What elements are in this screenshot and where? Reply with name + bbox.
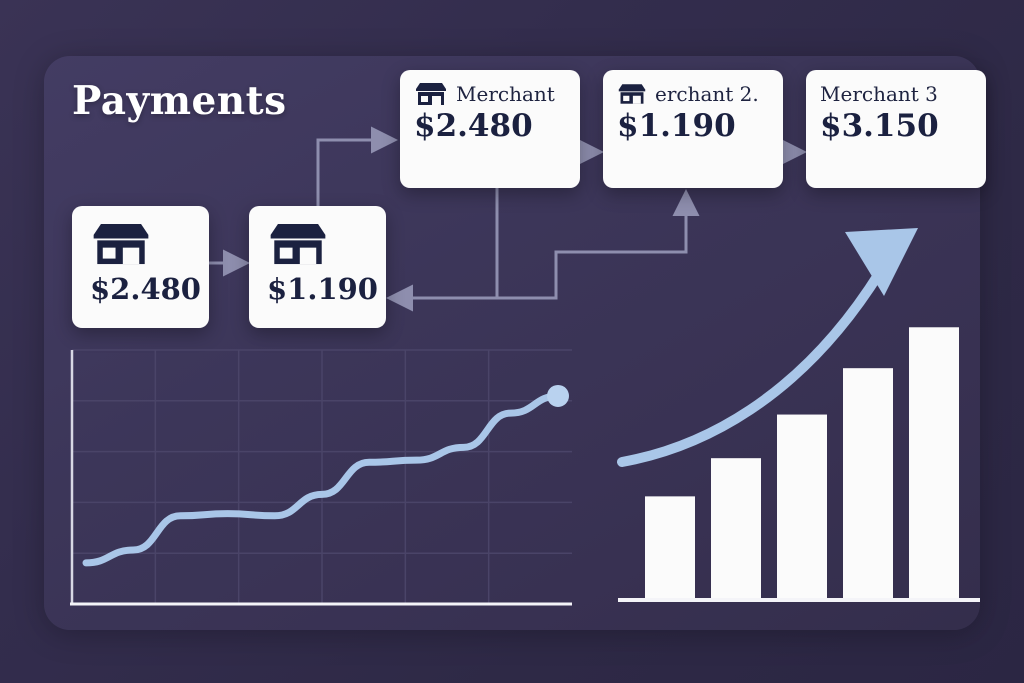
source-card-1-icon-wrap: [72, 206, 209, 266]
merchant-card-2-label: erchant 2.: [655, 82, 759, 106]
merchant-card-3[interactable]: Merchant 3 $3.150: [806, 70, 986, 188]
source-card-1[interactable]: $2.480: [72, 206, 209, 328]
merchant-card-2-head: erchant 2.: [603, 70, 783, 106]
source-card-2-icon-wrap: [249, 206, 386, 266]
merchant-card-1-amount: $2.480: [400, 106, 580, 156]
source-card-1-amount: $2.480: [72, 266, 209, 306]
page-title: Payments: [72, 78, 287, 124]
shop-icon: [267, 222, 329, 266]
merchant-card-3-head: Merchant 3: [806, 70, 986, 106]
source-card-2[interactable]: $1.190: [249, 206, 386, 328]
shop-icon: [414, 82, 448, 106]
merchant-card-3-label: Merchant 3: [820, 82, 938, 106]
shop-icon: [617, 83, 647, 105]
merchant-card-1-label: Merchant: [456, 82, 555, 106]
merchant-card-2-amount: $1.190: [603, 106, 783, 156]
shop-icon: [90, 222, 152, 266]
merchant-card-1-head: Merchant: [400, 70, 580, 106]
source-card-2-amount: $1.190: [249, 266, 386, 306]
screenshot-root: Payments Merchant $2: [0, 0, 1024, 683]
merchant-card-1[interactable]: Merchant $2.480: [400, 70, 580, 188]
merchant-card-3-amount: $3.150: [806, 106, 986, 156]
merchant-card-2[interactable]: erchant 2. $1.190: [603, 70, 783, 188]
